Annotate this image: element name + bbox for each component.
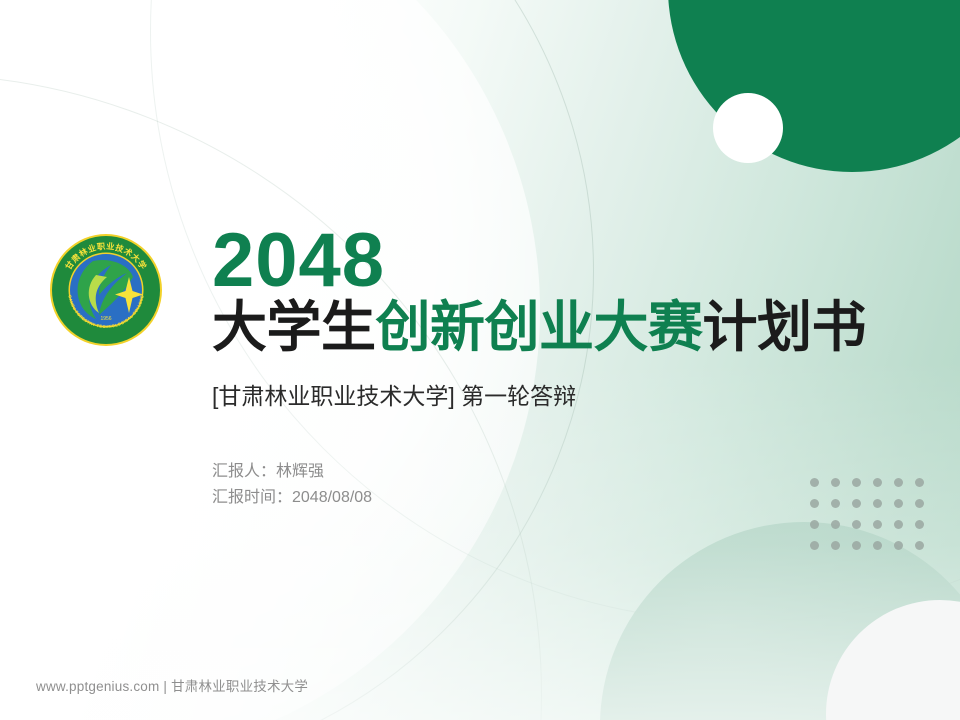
title-tail: 计划书 [703,296,867,358]
year-heading: 2048 [212,226,912,296]
page-title: 大学生创新创业大赛计划书 [212,298,912,356]
grid-dot [810,541,819,550]
grid-dot [894,541,903,550]
grid-dot [873,520,882,529]
grid-dot [915,478,924,487]
presenter-name: 汇报人：林辉强 [212,459,912,485]
title-block: 2048 大学生创新创业大赛计划书 [甘肃林业职业技术大学] 第一轮答辩 汇报人… [212,226,912,512]
grid-dot [831,541,840,550]
grid-dot [915,499,924,508]
title-accent: 创新创业大赛 [376,296,703,358]
university-logo-icon: 甘肃林业职业技术大学 GANSU FORESTRY TECHNOLOGICAL … [49,233,163,347]
page-subtitle: [甘肃林业职业技术大学] 第一轮答辩 [212,382,912,412]
presentation-slide: 甘肃林业职业技术大学 GANSU FORESTRY TECHNOLOGICAL … [0,0,960,720]
presenter-meta: 汇报人：林辉强 汇报时间：2048/08/08 [212,459,912,512]
grid-dot [831,520,840,529]
slide-footer: www.pptgenius.com | 甘肃林业职业技术大学 [36,675,308,695]
decorative-circle-top-right-white [713,93,783,163]
grid-dot [873,541,882,550]
grid-dot [894,520,903,529]
title-lead: 大学生 [212,296,376,358]
grid-dot [810,520,819,529]
grid-dot [852,541,861,550]
presentation-date: 汇报时间：2048/08/08 [212,485,912,511]
grid-dot [915,520,924,529]
logo-established-year: 1956 [100,316,111,322]
grid-dot [915,541,924,550]
grid-dot [852,520,861,529]
